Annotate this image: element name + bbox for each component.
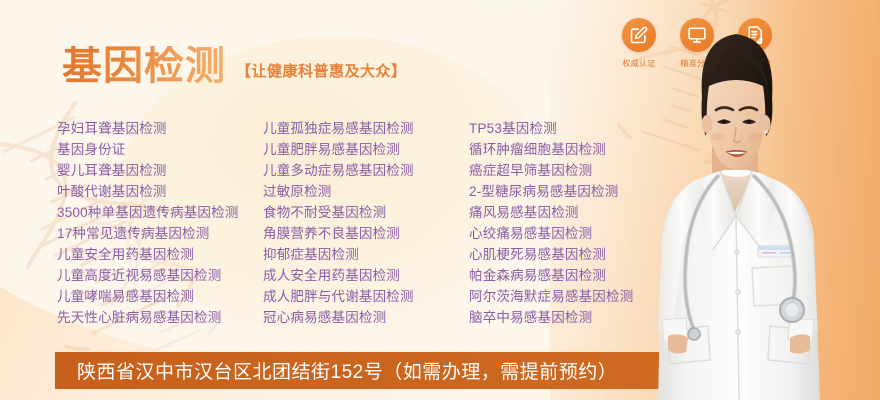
- banner-title-row: 基因检测 【让健康科普惠及大众】: [62, 46, 407, 86]
- service-list: 孕妇耳聋基因检测 基因身份证 婴儿耳聋基因检测 叶酸代谢基因检测 3500种单基…: [57, 118, 677, 328]
- list-item[interactable]: 过敏原检测: [263, 181, 469, 202]
- list-item[interactable]: 食物不耐受基因检测: [263, 202, 469, 223]
- page-subtitle: 【让健康科普惠及大众】: [236, 60, 407, 86]
- service-column-1: 孕妇耳聋基因检测 基因身份证 婴儿耳聋基因检测 叶酸代谢基因检测 3500种单基…: [57, 118, 263, 328]
- page-title: 基因检测: [62, 46, 226, 86]
- list-item[interactable]: 儿童高度近视易感基因检测: [57, 265, 263, 286]
- list-item[interactable]: 儿童哮喘易感基因检测: [57, 286, 263, 307]
- list-item[interactable]: 成人安全用药基因检测: [263, 265, 469, 286]
- list-item[interactable]: 儿童孤独症易感基因检测: [263, 118, 469, 139]
- list-item[interactable]: 儿童多动症易感基因检测: [263, 160, 469, 181]
- list-item[interactable]: 孕妇耳聋基因检测: [57, 118, 263, 139]
- list-item[interactable]: 儿童安全用药基因检测: [57, 244, 263, 265]
- address-text: 陕西省汉中市汉台区北团结街152号（如需办理，需提前预约）: [55, 357, 617, 384]
- gene-testing-banner: 基因检测 【让健康科普惠及大众】 权威认证 精准分型: [0, 0, 880, 400]
- service-column-2: 儿童孤独症易感基因检测 儿童肥胖易感基因检测 儿童多动症易感基因检测 过敏原检测…: [263, 118, 469, 328]
- doctor-photo: [612, 0, 862, 400]
- list-item[interactable]: 婴儿耳聋基因检测: [57, 160, 263, 181]
- list-item[interactable]: 冠心病易感基因检测: [263, 307, 469, 328]
- list-item[interactable]: 基因身份证: [57, 139, 263, 160]
- list-item[interactable]: 先天性心脏病易感基因检测: [57, 307, 263, 328]
- list-item[interactable]: 3500种单基因遗传病基因检测: [57, 202, 263, 223]
- list-item[interactable]: 叶酸代谢基因检测: [57, 181, 263, 202]
- list-item[interactable]: 儿童肥胖易感基因检测: [263, 139, 469, 160]
- list-item[interactable]: 17种常见遗传病基因检测: [57, 223, 263, 244]
- list-item[interactable]: 成人肥胖与代谢基因检测: [263, 286, 469, 307]
- list-item[interactable]: 角膜营养不良基因检测: [263, 223, 469, 244]
- list-item[interactable]: 抑郁症基因检测: [263, 244, 469, 265]
